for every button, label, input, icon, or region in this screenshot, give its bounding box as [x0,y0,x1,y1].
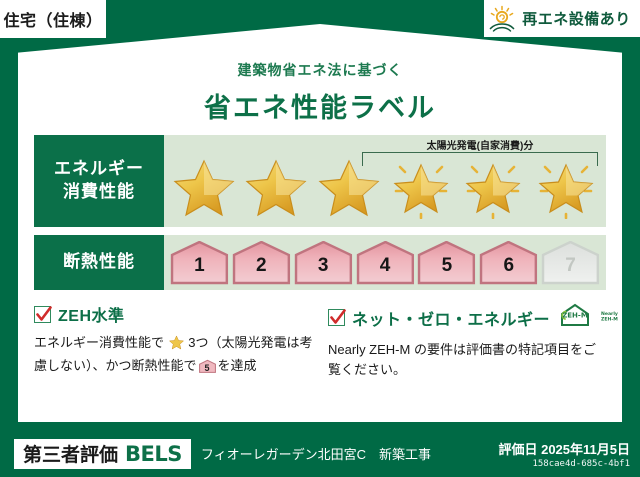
zeh-desc-part-a: エネルギー消費性能で [34,335,164,350]
sun-icon [487,4,517,34]
label-panel: 建築物省エネ法に基づく 省エネ性能ラベル エネルギー 消費性能 太陽光発電(自家… [18,24,622,422]
insulation-level-1: 1 [170,241,229,285]
evaluation-date-label: 評価日 [498,442,537,457]
bels-en-label: BELS [125,442,182,466]
zeh-title: ZEH水準 [58,302,125,326]
inline-house-level: 5 [199,362,216,376]
star-5-solar [457,154,529,222]
zeh-m-logo-icon: ZEH-M Nearly ZEH-M [559,302,621,333]
nze-description: Nearly ZEH-M の要件は評価書の特記項目をご覧ください。 [328,340,608,380]
star-2 [240,154,312,222]
evaluation-date-value: 2025年11月5日 [541,442,630,457]
energy-performance-label: 住宅（住棟） 再エネ設備あり 建築物省エネ法に基づく [0,0,640,477]
renewable-equipment-tag: 再エネ設備あり [484,0,640,37]
star-6-solar [530,154,602,222]
evaluation-id: 158cae4d-685c-4bf1 [498,459,630,469]
bels-jp-label: 第三者評価 [23,440,118,467]
insulation-performance-row: 断熱性能 [34,235,606,290]
nze-checkbox[interactable] [328,309,345,326]
energy-performance-row: エネルギー 消費性能 太陽光発電(自家消費)分 [34,135,606,227]
zeh-desc-star-count: 3つ（太陽光発電 [188,335,286,350]
inline-star-icon [165,338,187,353]
criteria-nze-header: ネット・ゼロ・エネルギー ZEH-M Nearly ZEH-M [328,302,608,333]
zeh-checkbox[interactable] [34,306,51,323]
star-1 [168,154,240,222]
criteria-net-zero-energy: ネット・ゼロ・エネルギー ZEH-M Nearly ZEH-M Nearly Z… [328,302,608,380]
energy-rating-body: 太陽光発電(自家消費)分 [164,135,606,227]
insulation-level-7: 7 [541,241,600,285]
building-type-tag-label: 住宅（住棟） [3,7,102,31]
star-4-solar [385,154,457,222]
insulation-rating-body: 1 2 3 [164,235,606,290]
insulation-performance-label-box: 断熱性能 [34,235,164,290]
criteria-zeh-header: ZEH水準 [34,302,314,326]
star-3 [313,154,385,222]
insulation-level-6: 6 [479,241,538,285]
project-name: フィオーレガーデン北田宮C 新築工事 [201,444,431,463]
inline-house-icon: 5 [199,359,216,380]
zeh-desc-part-c: を達成 [218,358,257,373]
page-title: 省エネ性能ラベル [18,86,622,125]
svg-text:ZEH-M: ZEH-M [601,317,618,323]
title-subtitle: 建築物省エネ法に基づく [18,60,622,80]
energy-label-line2: 消費性能 [63,181,135,204]
zeh-description: エネルギー消費性能で 3つ（太陽光発電は考慮しない）、かつ断熱性能で 5 を達成 [34,333,314,380]
energy-label-line1: エネルギー [54,158,144,181]
svg-text:ZEH-M: ZEH-M [562,312,588,320]
bels-badge: 第三者評価 BELS [14,439,191,469]
evaluation-date: 評価日 2025年11月5日 [498,439,630,458]
title-block: 建築物省エネ法に基づく 省エネ性能ラベル [18,60,622,125]
footer-bar: 第三者評価 BELS フィオーレガーデン北田宮C 新築工事 評価日 2025年1… [0,430,640,477]
svg-text:Nearly: Nearly [601,311,618,317]
building-type-tag: 住宅（住棟） [0,0,106,38]
insulation-level-2: 2 [232,241,291,285]
criteria-section: ZEH水準 エネルギー消費性能で 3つ（太陽光発電は考慮しない）、かつ断熱性能で… [34,302,608,380]
energy-star-rating [164,138,606,224]
evaluation-info: 評価日 2025年11月5日 158cae4d-685c-4bf1 [498,439,630,469]
insulation-level-scale: 1 2 3 [164,241,606,285]
renewable-tag-label: 再エネ設備あり [522,8,631,29]
insulation-level-4: 4 [356,241,415,285]
insulation-level-3: 3 [294,241,353,285]
insulation-level-5: 5 [417,241,476,285]
nze-title: ネット・ゼロ・エネルギー [352,306,550,330]
energy-performance-label-box: エネルギー 消費性能 [34,135,164,227]
criteria-zeh: ZEH水準 エネルギー消費性能で 3つ（太陽光発電は考慮しない）、かつ断熱性能で… [34,302,314,380]
insulation-label: 断熱性能 [63,251,135,274]
